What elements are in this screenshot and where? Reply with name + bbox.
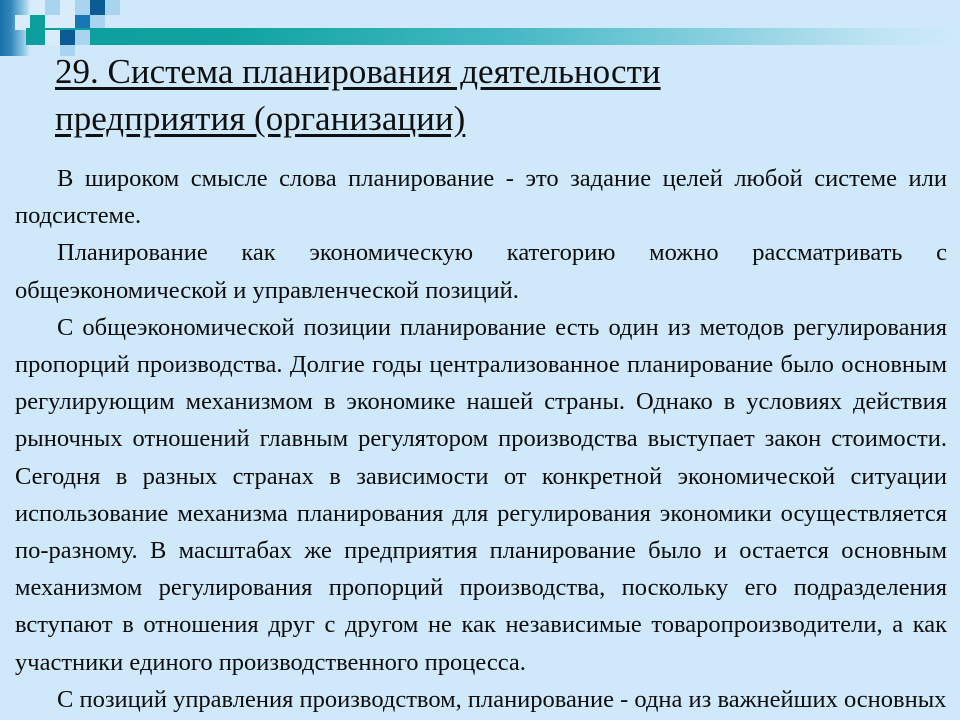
decor-square xyxy=(75,0,90,15)
slide-title: 29. Система планирования деятельности пр… xyxy=(55,48,945,142)
decor-square xyxy=(75,30,90,45)
body-paragraph-1: В широком смысле слова планирование - эт… xyxy=(15,160,947,234)
teal-accent-bar xyxy=(26,28,960,45)
decor-square xyxy=(45,0,60,15)
body-paragraph-3: С общеэкономической позиции планирование… xyxy=(15,309,947,681)
slide-body: В широком смысле слова планирование - эт… xyxy=(15,160,947,720)
decor-square xyxy=(30,0,45,15)
decor-square xyxy=(60,0,75,15)
body-paragraph-4: С позиций управления производством, план… xyxy=(15,681,947,720)
presentation-slide: 29. Система планирования деятельности пр… xyxy=(0,0,960,720)
decor-square xyxy=(45,30,60,45)
body-paragraph-2: Планирование как экономическую категорию… xyxy=(15,234,947,308)
decor-square xyxy=(60,30,75,45)
decor-square xyxy=(90,0,105,15)
decor-square xyxy=(105,0,120,15)
slide-title-line-2: предприятия (организации) xyxy=(55,95,945,142)
slide-title-line-1: 29. Система планирования деятельности xyxy=(55,48,945,95)
